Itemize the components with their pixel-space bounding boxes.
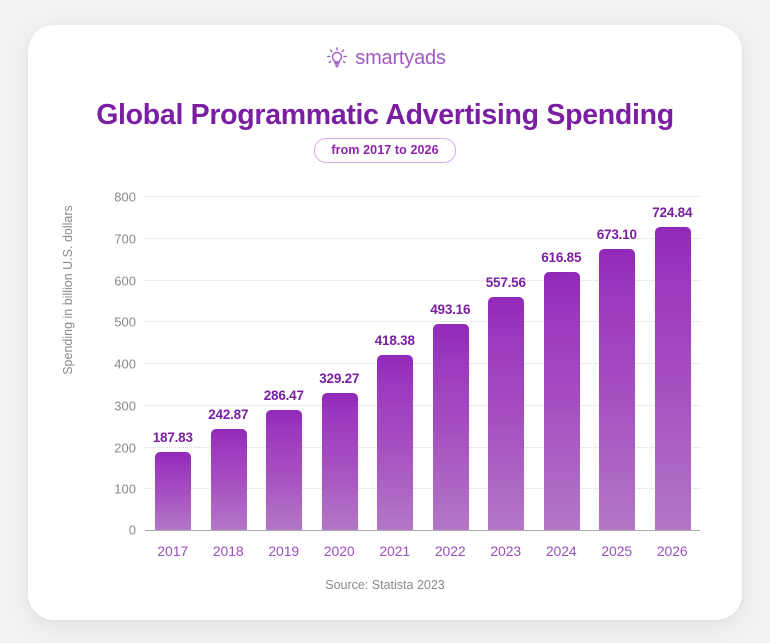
x-axis-tick: 2018 <box>201 543 257 559</box>
bar-value-label: 242.87 <box>201 407 257 422</box>
bar[interactable] <box>433 324 469 530</box>
y-axis-tick: 500 <box>114 315 136 330</box>
source-note: Source: Statista 2023 <box>28 578 742 592</box>
bar[interactable] <box>377 355 413 530</box>
x-axis-tick: 2026 <box>645 543 701 559</box>
bar-slot[interactable]: 673.10 <box>589 196 645 530</box>
bar-slot[interactable]: 616.85 <box>534 196 590 530</box>
bar[interactable] <box>488 297 524 530</box>
bar-value-label: 329.27 <box>312 371 368 386</box>
x-axis-tick: 2019 <box>256 543 312 559</box>
x-axis-tick: 2024 <box>534 543 590 559</box>
y-axis-tick: 800 <box>114 190 136 205</box>
bar-chart: Spending in billion U.S. dollars 8007006… <box>28 25 742 620</box>
x-axis-tick: 2023 <box>478 543 534 559</box>
bar-slot[interactable]: 286.47 <box>256 196 312 530</box>
bar-slot[interactable]: 724.84 <box>645 196 701 530</box>
bar-slot[interactable]: 418.38 <box>367 196 423 530</box>
bar-series: 187.83242.87286.47329.27418.38493.16557.… <box>145 196 700 530</box>
bar[interactable] <box>322 393 358 530</box>
bar-slot[interactable]: 557.56 <box>478 196 534 530</box>
plot-area: 8007006005004003002001000 187.83242.8728… <box>145 196 700 530</box>
bar-slot[interactable]: 242.87 <box>201 196 257 530</box>
y-axis-tick: 200 <box>114 440 136 455</box>
y-axis-tick: 600 <box>114 273 136 288</box>
y-axis-tick: 0 <box>129 523 136 538</box>
x-axis-tick: 2020 <box>312 543 368 559</box>
bar-value-label: 286.47 <box>256 388 312 403</box>
y-axis-tick: 300 <box>114 398 136 413</box>
y-axis-tick: 700 <box>114 231 136 246</box>
y-axis-tick: 100 <box>114 482 136 497</box>
bar[interactable] <box>155 452 191 530</box>
bar-value-label: 418.38 <box>367 333 423 348</box>
x-axis-tick: 2021 <box>367 543 423 559</box>
y-axis-tick: 400 <box>114 357 136 372</box>
bar[interactable] <box>655 227 691 530</box>
bar[interactable] <box>544 272 580 530</box>
x-axis-tick: 2022 <box>423 543 479 559</box>
chart-card: smartyads Global Programmatic Advertisin… <box>28 25 742 620</box>
bar-value-label: 673.10 <box>589 227 645 242</box>
bar-value-label: 187.83 <box>145 430 201 445</box>
bar[interactable] <box>599 249 635 530</box>
page-root: smartyads Global Programmatic Advertisin… <box>0 0 770 643</box>
bar-value-label: 493.16 <box>423 302 479 317</box>
bar-slot[interactable]: 329.27 <box>312 196 368 530</box>
x-axis-line <box>145 530 700 531</box>
bar-value-label: 724.84 <box>645 205 701 220</box>
x-axis-tick: 2025 <box>589 543 645 559</box>
bar-slot[interactable]: 187.83 <box>145 196 201 530</box>
bar-value-label: 616.85 <box>534 250 590 265</box>
x-axis-tick: 2017 <box>145 543 201 559</box>
bar-slot[interactable]: 493.16 <box>423 196 479 530</box>
bar[interactable] <box>266 410 302 530</box>
bar-value-label: 557.56 <box>478 275 534 290</box>
bar[interactable] <box>211 429 247 530</box>
y-axis-label: Spending in billion U.S. dollars <box>61 190 75 390</box>
